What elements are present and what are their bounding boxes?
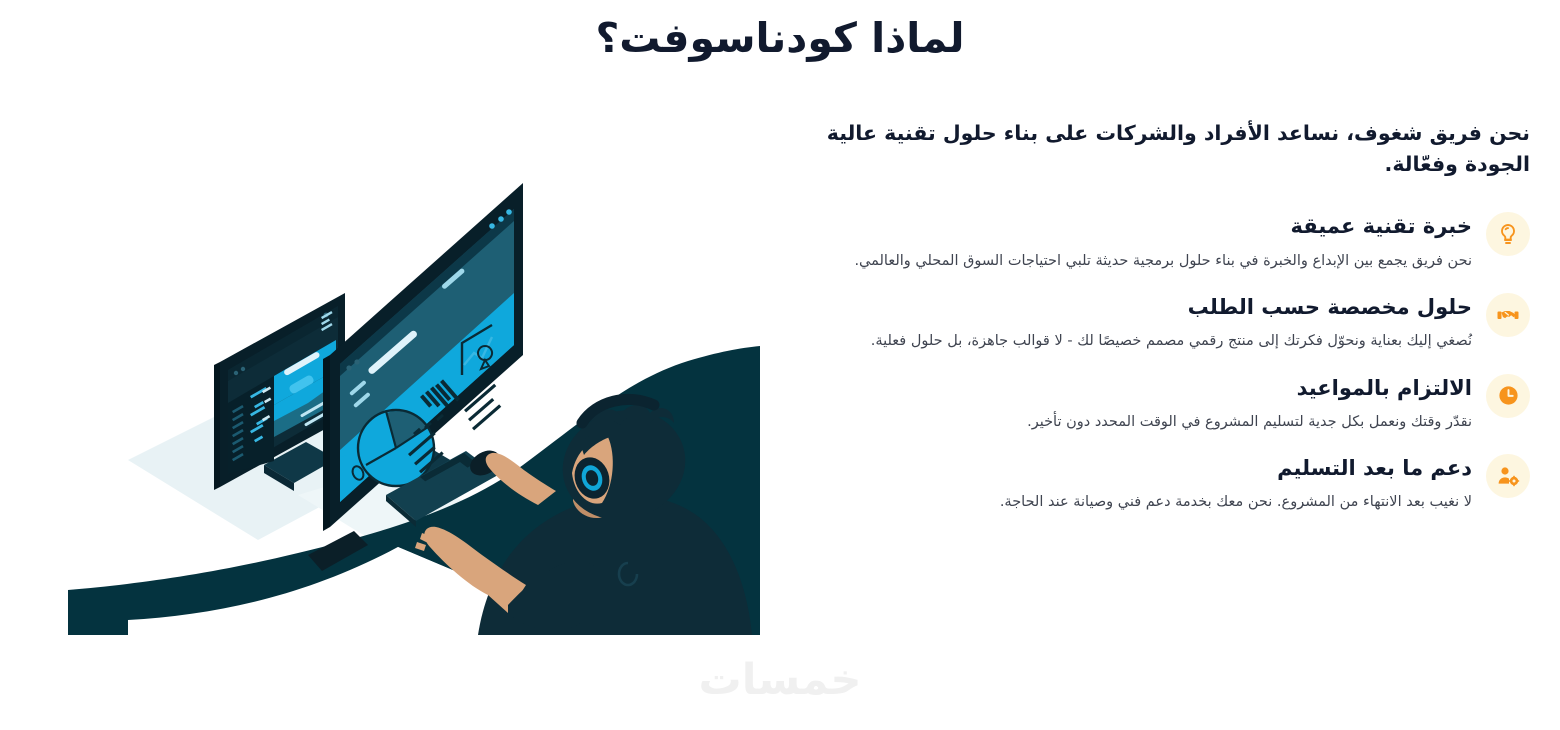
feature-description: نحن فريق يجمع بين الإبداع والخبرة في بنا… (790, 249, 1472, 274)
feature-title: خبرة تقنية عميقة (790, 213, 1472, 239)
feature-title: دعم ما بعد التسليم (790, 455, 1472, 481)
clock-icon (1486, 374, 1530, 418)
feature-item-on-time-delivery: الالتزام بالمواعيد نقدّر وقتك ونعمل بكل … (790, 372, 1530, 436)
feature-body: دعم ما بعد التسليم لا نغيب بعد الانتهاء … (790, 452, 1472, 516)
feature-title: الالتزام بالمواعيد (790, 375, 1472, 401)
illustration-svg (68, 165, 760, 635)
feature-item-post-delivery-support: دعم ما بعد التسليم لا نغيب بعد الانتهاء … (790, 452, 1530, 516)
hero-illustration (68, 165, 760, 635)
feature-body: الالتزام بالمواعيد نقدّر وقتك ونعمل بكل … (790, 372, 1472, 436)
feature-body: حلول مخصصة حسب الطلب نُصغي إليك بعناية و… (790, 291, 1472, 355)
feature-description: نُصغي إليك بعناية ونحوّل فكرتك إلى منتج … (790, 329, 1472, 354)
lightbulb-icon (1486, 212, 1530, 256)
feature-description: لا نغيب بعد الانتهاء من المشروع. نحن معك… (790, 490, 1472, 515)
page-title: لماذا كودناسوفت؟ (0, 14, 1560, 62)
feature-body: خبرة تقنية عميقة نحن فريق يجمع بين الإبد… (790, 210, 1472, 274)
feature-description: نقدّر وقتك ونعمل بكل جدية لتسليم المشروع… (790, 410, 1472, 435)
feature-title: حلول مخصصة حسب الطلب (790, 294, 1472, 320)
feature-item-custom-solutions: حلول مخصصة حسب الطلب نُصغي إليك بعناية و… (790, 291, 1530, 355)
content-column: نحن فريق شغوف، نساعد الأفراد والشركات عل… (790, 118, 1530, 533)
feature-item-deep-expertise: خبرة تقنية عميقة نحن فريق يجمع بين الإبد… (790, 210, 1530, 274)
handshake-icon (1486, 293, 1530, 337)
khamsat-watermark: خمسات (0, 655, 1560, 705)
user-gear-icon (1486, 454, 1530, 498)
intro-paragraph: نحن فريق شغوف، نساعد الأفراد والشركات عل… (790, 118, 1530, 180)
